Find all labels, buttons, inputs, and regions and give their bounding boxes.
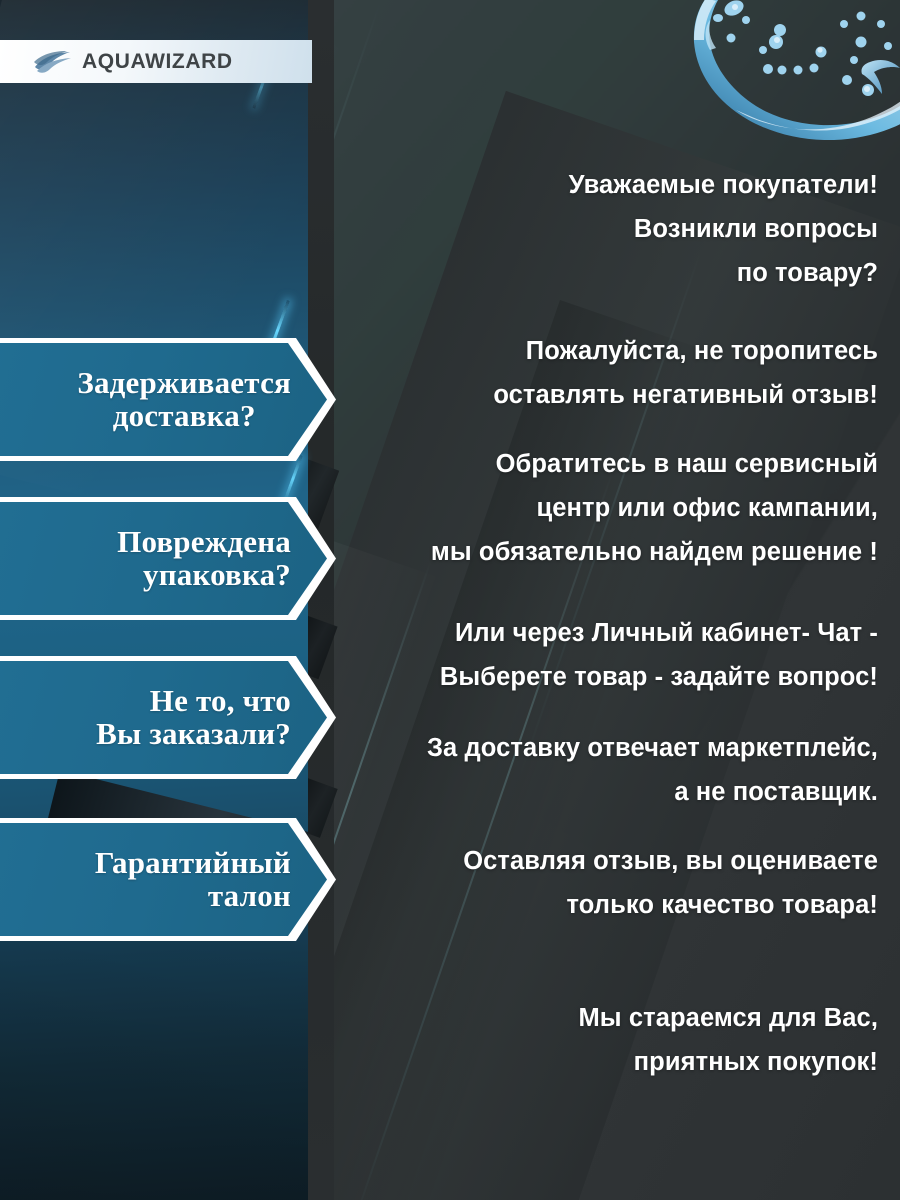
banner-body: Задерживается доставка? xyxy=(0,343,327,456)
banner-delivery-delayed[interactable]: Задерживается доставка? xyxy=(0,338,336,461)
message-paragraph-greeting: Уважаемые покупатели! Возникли вопросы п… xyxy=(330,164,878,296)
banner-label: Задерживается доставка? xyxy=(77,367,291,433)
water-wave-icon xyxy=(34,51,72,73)
banner-label: Гарантийный талон xyxy=(95,847,291,913)
banner-wrong-item[interactable]: Не то, что Вы заказали? xyxy=(0,656,336,779)
brand-logo: AQUAWIZARD xyxy=(0,40,312,83)
brand-name: AQUAWIZARD xyxy=(82,50,233,74)
banner-body: Повреждена упаковка? xyxy=(0,502,327,615)
banner-body: Гарантийный талон xyxy=(0,823,327,936)
message-paragraph-service-center: Обратитесь в наш сервисный центр или офи… xyxy=(330,443,878,575)
banner-label: Не то, что Вы заказали? xyxy=(96,685,291,751)
banner-warranty-card[interactable]: Гарантийный талон xyxy=(0,818,336,941)
message-paragraph-closing: Мы стараемся для Вас, приятных покупок! xyxy=(330,997,878,1085)
message-column: Уважаемые покупатели! Возникли вопросы п… xyxy=(330,0,900,1200)
info-card-canvas: AQUAWIZARD Задерживается доставка? Повре… xyxy=(0,0,900,1200)
banner-body: Не то, что Вы заказали? xyxy=(0,661,327,774)
message-paragraph-rate-quality: Оставляя отзыв, вы оцениваете только кач… xyxy=(330,840,878,928)
banner-label: Повреждена упаковка? xyxy=(117,526,291,592)
message-paragraph-personal-account-chat: Или через Личный кабинет- Чат - Выберете… xyxy=(330,612,878,700)
message-paragraph-no-negative-review: Пожалуйста, не торопитесь оставлять нега… xyxy=(330,330,878,418)
message-paragraph-marketplace-delivery: За доставку отвечает маркетплейс, а не п… xyxy=(330,727,878,815)
banner-damaged-packaging[interactable]: Повреждена упаковка? xyxy=(0,497,336,620)
